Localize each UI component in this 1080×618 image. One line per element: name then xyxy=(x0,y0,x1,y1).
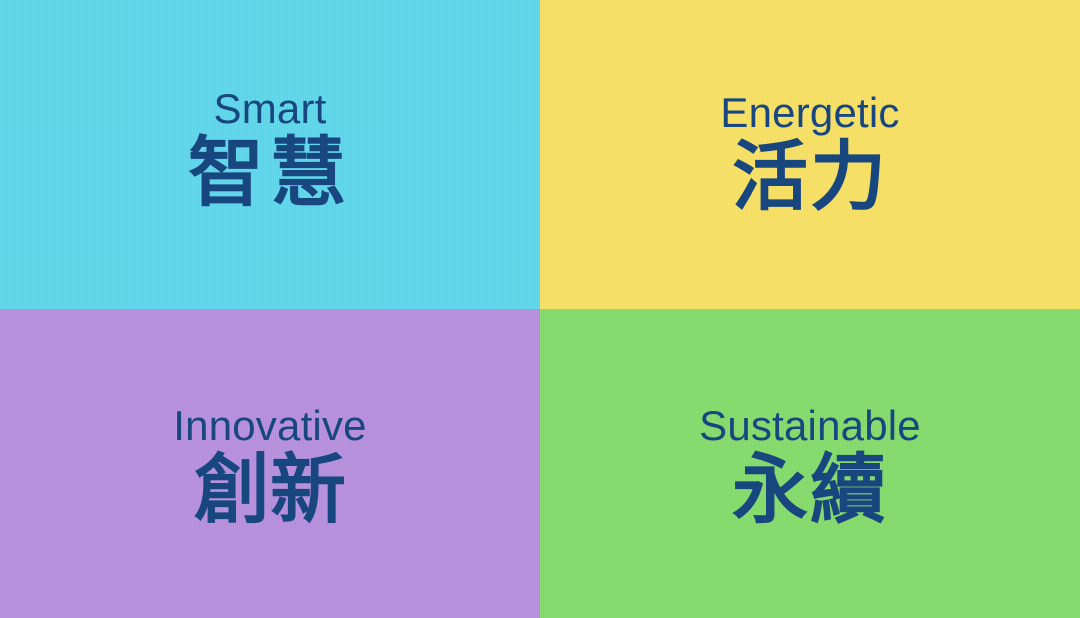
quadrant-innovative-label-zh: 創新 xyxy=(0,450,540,532)
quadrant-innovative-text-block: Innovative 創新 xyxy=(0,405,540,532)
quadrant-sustainable-text-block: Sustainable 永續 xyxy=(540,405,1080,532)
quadrant-energetic-text-block: Energetic 活力 xyxy=(540,92,1080,219)
quadrant-smart-label-zh: 智慧 xyxy=(0,133,540,215)
quadrant-sustainable-label-en: Sustainable xyxy=(540,405,1080,448)
quadrant-energetic-label-en: Energetic xyxy=(540,92,1080,135)
quadrant-innovative-label-en: Innovative xyxy=(0,405,540,448)
quadrant-smart-label-en: Smart xyxy=(0,88,540,131)
brand-values-graphic: Smart 智慧 Energetic 活力 Innovative 創新 Sust… xyxy=(0,0,1080,618)
quadrant-grid: Smart 智慧 Energetic 活力 Innovative 創新 Sust… xyxy=(0,0,1080,618)
quadrant-innovative: Innovative 創新 xyxy=(0,309,540,618)
quadrant-energetic: Energetic 活力 xyxy=(540,0,1080,309)
quadrant-sustainable-label-zh: 永續 xyxy=(540,450,1080,532)
quadrant-smart-text-block: Smart 智慧 xyxy=(0,88,540,215)
quadrant-smart: Smart 智慧 xyxy=(0,0,540,309)
quadrant-sustainable: Sustainable 永續 xyxy=(540,309,1080,618)
quadrant-energetic-label-zh: 活力 xyxy=(540,137,1080,219)
